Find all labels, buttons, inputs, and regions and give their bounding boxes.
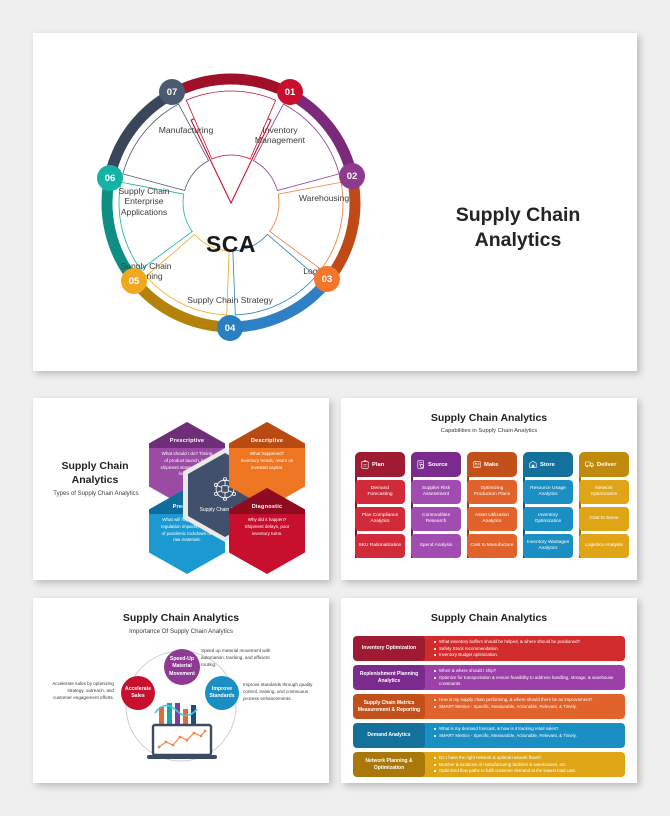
capability-item[interactable]: SKU Rationalization [355, 534, 405, 558]
slide-4-subtitle: Importance Of Supply Chain Analytics [33, 628, 329, 635]
wheel-badge-01[interactable]: 01 [277, 79, 303, 105]
supply-chain-wheel: SCA Inventory Management Warehousing Log… [81, 53, 381, 353]
capability-column-plan[interactable]: Plan Demand Forecasting Plan Compliance … [355, 452, 405, 558]
slide-2-title-line2: Analytics [43, 474, 147, 488]
factory-icon [473, 460, 481, 469]
capability-heading-store: Store [540, 462, 555, 468]
wheel-badge-06[interactable]: 06 [97, 165, 123, 191]
analytics-row-label: Demand Analytics [353, 723, 425, 748]
slide-2-subtitle: Types of Supply Chain Analytics [46, 490, 146, 498]
slide-4-importance[interactable]: Supply Chain Analytics Importance Of Sup… [33, 598, 329, 783]
analytics-row-bullets: Do I have the right network & optimal ne… [422, 752, 625, 777]
slide-3-capabilities[interactable]: Supply Chain Analytics Capabilities in S… [341, 398, 637, 580]
analytics-row[interactable]: Replenishment Planning Analytics When & … [353, 665, 625, 690]
bullet: Inventory Budget optimization. [434, 652, 619, 659]
slide-1-title: Supply Chain Analytics [403, 203, 633, 253]
analytics-row[interactable]: Supply Chain Metrics Measurement & Repor… [353, 694, 625, 719]
wheel-badge-07[interactable]: 07 [159, 79, 185, 105]
wheel-label-07: Manufacturing [143, 125, 229, 135]
analytics-row-bullets: How is my supply chain performing, & whe… [422, 694, 625, 719]
analytics-row-bullets: What is my demand forecast, & how is it … [422, 723, 625, 748]
analytics-row-bullets: What inventory buffers should be helped,… [422, 636, 625, 661]
note-accelerate-sales: Accelerate sales by optimizing strategy,… [48, 681, 114, 702]
capability-column-make[interactable]: Make Optimizing Production Plans Asset U… [467, 452, 517, 558]
bullet: What is my demand forecast, & how is it … [434, 726, 619, 733]
wheel-badge-02[interactable]: 02 [339, 163, 365, 189]
slide-2-title-line1: Supply Chain [43, 460, 147, 474]
capability-heading-make: Make [484, 462, 499, 468]
capability-item[interactable]: Resource Usage Analytics [523, 480, 573, 504]
capability-item[interactable]: Supplier Risk Assessment [411, 480, 461, 504]
bullet: What inventory buffers should be helped,… [434, 639, 619, 646]
capability-item[interactable]: Cost to Serve [579, 507, 629, 531]
analytics-row[interactable]: Demand Analytics What is my demand forec… [353, 723, 625, 748]
capability-item[interactable]: Plan Compliance Analytics [355, 507, 405, 531]
bullet: SMART Metrics - Specific, Measurable, Ac… [434, 733, 619, 740]
capability-item[interactable]: Optimizing Production Plans [467, 480, 517, 504]
bullet: Do I have the right network & optimal ne… [434, 755, 619, 762]
slide-3-title: Supply Chain Analytics [341, 412, 637, 424]
note-speed-up-material-movement: Speed up material movement with automati… [201, 648, 273, 669]
slide-1-title-line2: Analytics [403, 228, 633, 253]
slide-deck-preview: SCA Inventory Management Warehousing Log… [0, 0, 670, 816]
wheel-center-label: SCA [191, 231, 271, 258]
capability-item[interactable]: Spend Analysis [411, 534, 461, 558]
hex-diagnostic-body: Why did it happen? Shipment delays, poor… [229, 514, 305, 537]
wheel-badge-03[interactable]: 03 [314, 266, 340, 292]
capability-heading-deliver: Deliver [597, 462, 616, 468]
note-improve-standards: Improve standards through quality contro… [243, 682, 315, 703]
bullet: SMART Metrics - Specific, Measurable, Ac… [434, 704, 619, 711]
analytics-row-label: Supply Chain Metrics Measurement & Repor… [353, 694, 425, 719]
hex-diagnostic-heading: Diagnostic [229, 488, 305, 514]
bullet: Number & locations of manufacturing faci… [434, 762, 619, 769]
wheel-label-04: Supply Chain Strategy [187, 295, 273, 305]
slide-4-title: Supply Chain Analytics [33, 612, 329, 624]
capability-heading-plan: Plan [372, 462, 384, 468]
slide-1-title-line1: Supply Chain [403, 203, 633, 228]
slide-2-title: Supply Chain Analytics [43, 460, 147, 487]
capability-heading-source: Source [428, 462, 448, 468]
capability-column-store[interactable]: Store Resource Usage Analytics Inventory… [523, 452, 573, 558]
capability-item[interactable]: Demand Forecasting [355, 480, 405, 504]
capability-item[interactable]: Logistics Analysis [579, 534, 629, 558]
wheel-label-06: Supply Chain Enterprise Applications [101, 186, 187, 217]
warehouse-icon [529, 460, 537, 469]
wheel-badge-05[interactable]: 05 [121, 268, 147, 294]
analytics-row-label: Network Planning & Optimization [353, 752, 425, 777]
document-search-icon [417, 460, 425, 469]
hex-descriptive-body: What happened? Inventory trends, return … [229, 448, 305, 471]
capability-item[interactable]: Network Optimization [579, 480, 629, 504]
analytics-row-label: Inventory Optimization [353, 636, 425, 661]
wheel-badge-04[interactable]: 04 [217, 315, 243, 341]
truck-icon [585, 460, 594, 469]
capability-column-deliver[interactable]: Deliver Network Optimization Cost to Ser… [579, 452, 629, 558]
slide-1-wheel[interactable]: SCA Inventory Management Warehousing Log… [33, 33, 637, 371]
bullet: Optimized flow paths to fulfil customer … [434, 768, 619, 775]
capability-item[interactable]: Commodities Research [411, 507, 461, 531]
analytics-row-label: Replenishment Planning Analytics [353, 665, 425, 690]
node-speed-up-material-movement[interactable]: Speed-Up Material Movement [164, 649, 200, 685]
bullet: When & where should I ship? [434, 668, 619, 675]
slide-5-analytics-rows[interactable]: Supply Chain Analytics Inventory Optimiz… [341, 598, 637, 783]
hex-descriptive-heading: Descriptive [229, 422, 305, 448]
capability-item[interactable]: Asset Utilization Analytics [467, 507, 517, 531]
capability-item[interactable]: Cost to Manufacture [467, 534, 517, 558]
bullet: Optimize for transportation & ensure fea… [434, 675, 619, 688]
analytics-row-bullets: When & where should I ship? Optimize for… [422, 665, 625, 690]
bullet: Safety Stock recommendation. [434, 646, 619, 653]
wheel-label-02: Warehousing [281, 193, 367, 203]
capability-item[interactable]: Inventory Wastages Analytics [523, 534, 573, 558]
analytics-row[interactable]: Inventory Optimization What inventory bu… [353, 636, 625, 661]
hex-prescriptive-heading: Prescriptive [149, 422, 225, 448]
hex-diagnostic[interactable]: Diagnostic Why did it happen? Shipment d… [229, 488, 305, 574]
wheel-arc[interactable] [185, 79, 278, 88]
bullet: How is my supply chain performing, & whe… [434, 697, 619, 704]
slide-5-title: Supply Chain Analytics [341, 612, 637, 624]
slide-3-subtitle: Capabilities in Supply Chain Analytics [341, 428, 637, 434]
wheel-label-01: Inventory Management [237, 125, 323, 146]
analytics-row[interactable]: Network Planning & Optimization Do I hav… [353, 752, 625, 777]
slide-2-types[interactable]: Supply Chain Analytics Types of Supply C… [33, 398, 329, 580]
laptop-bar-chart-icon [143, 703, 221, 765]
capability-item[interactable]: Inventory Optimization [523, 507, 573, 531]
capability-column-source[interactable]: Source Supplier Risk Assessment Commodit… [411, 452, 461, 558]
clipboard-icon [361, 460, 369, 469]
